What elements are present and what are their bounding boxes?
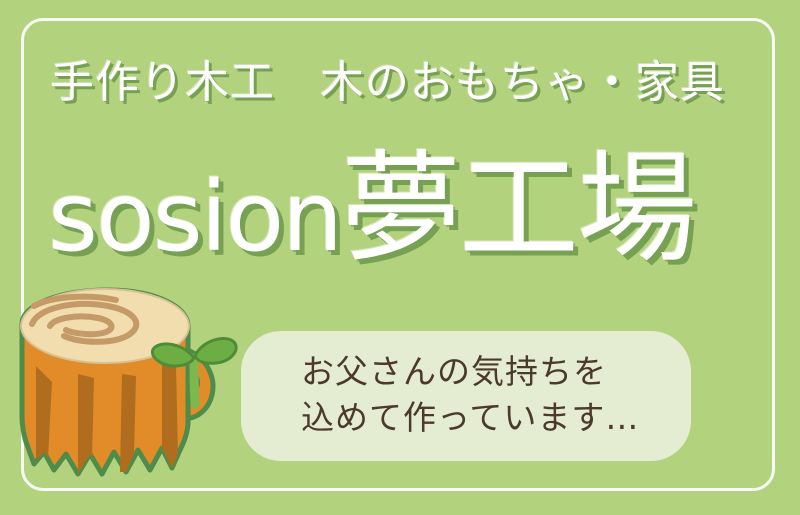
speech-bubble: お父さんの気持ちを 込めて作っています… (241, 331, 691, 461)
banner-title-kanji: 夢工場 (341, 140, 695, 279)
speech-bubble-text: お父さんの気持ちを 込めて作っています… (301, 349, 691, 440)
banner-subtitle: 手作り木工 木のおもちゃ・家具 (50, 61, 760, 105)
banner-root: 手作り木工 木のおもちゃ・家具 sosion夢工場 お父さんの気持ちを 込めて作… (0, 0, 800, 515)
stump-svg (12, 282, 247, 482)
banner-title-latin: sosion (48, 161, 341, 273)
sprout-stem (194, 358, 195, 404)
sprout-leaf-right (195, 338, 236, 363)
banner-title: sosion夢工場 (48, 150, 778, 270)
tree-stump-with-sprout-illustration (12, 282, 247, 482)
